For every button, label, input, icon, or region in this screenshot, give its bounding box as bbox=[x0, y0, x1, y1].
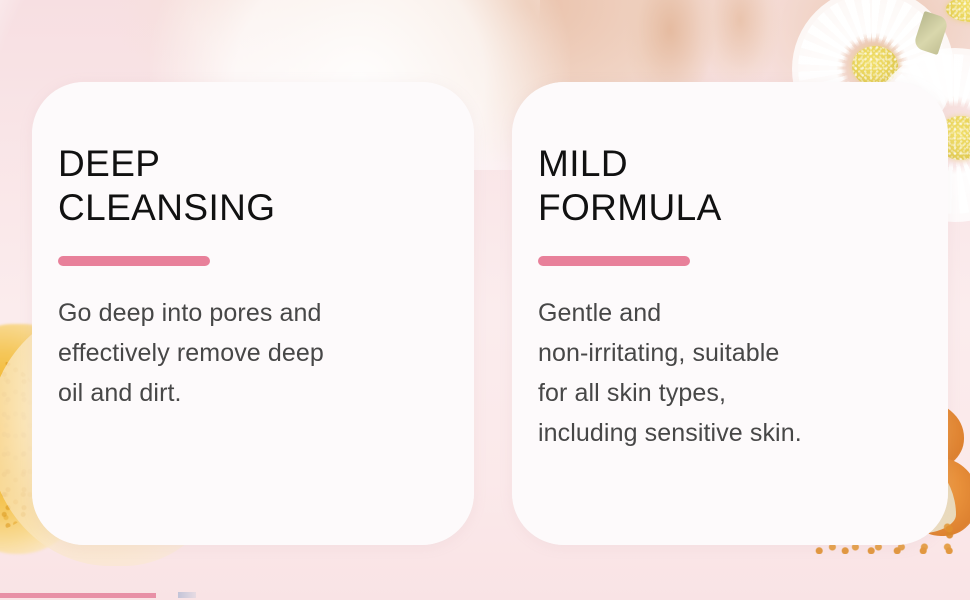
card-title-deep-cleansing: DEEP CLEANSING bbox=[58, 142, 474, 230]
bottom-edge-mark bbox=[178, 592, 196, 598]
daisy-bud-icon bbox=[946, 0, 970, 22]
accent-bar-mild-formula bbox=[538, 256, 690, 266]
accent-bar-deep-cleansing bbox=[58, 256, 210, 266]
feature-card-deep-cleansing: DEEP CLEANSING Go deep into pores and ef… bbox=[32, 82, 474, 545]
leaf-icon bbox=[913, 11, 949, 55]
promo-banner: DEEP CLEANSING Go deep into pores and ef… bbox=[0, 0, 970, 600]
daisy-center-icon bbox=[852, 46, 898, 86]
feature-card-mild-formula: MILD FORMULA Gentle and non-irritating, … bbox=[512, 82, 948, 545]
card-body-deep-cleansing: Go deep into pores and effectively remov… bbox=[58, 293, 474, 413]
bottom-accent-rule bbox=[0, 593, 156, 598]
card-title-mild-formula: MILD FORMULA bbox=[538, 142, 948, 230]
card-body-mild-formula: Gentle and non-irritating, suitable for … bbox=[538, 293, 948, 453]
